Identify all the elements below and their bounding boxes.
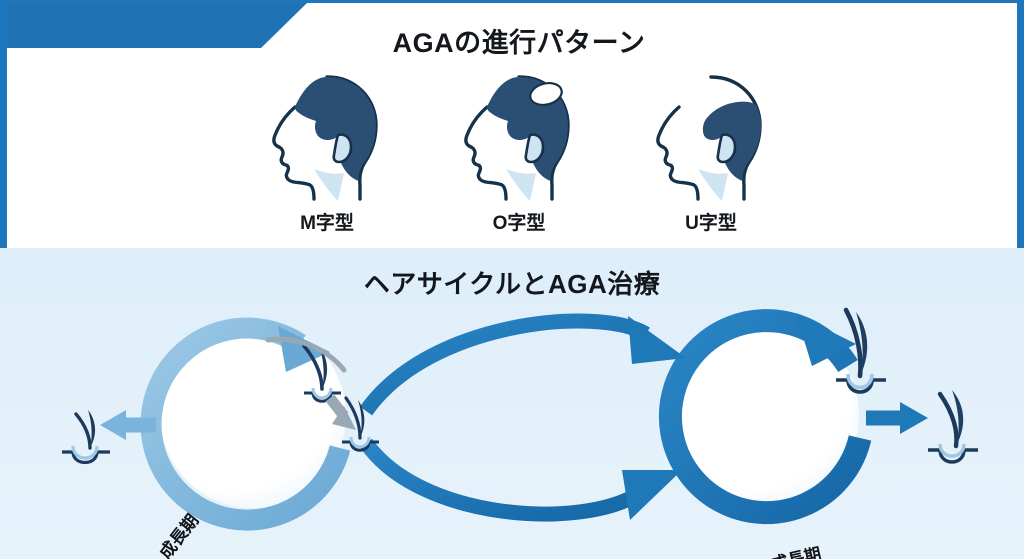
pattern-label-m: M字型: [252, 208, 402, 235]
aga-pattern-section: AGAの進行パターン AGAの進行パターン M字型: [0, 0, 1024, 248]
pattern-list: M字型 O字型: [7, 61, 1024, 235]
pattern-item-o: O字型: [444, 61, 594, 235]
follicle-icon-hairgrowth: [928, 390, 978, 462]
hair-cycle-section: ヘアサイクルとAGA治療: [0, 248, 1024, 559]
treatment-arrow-top: [366, 316, 686, 411]
section-ribbon: [7, 3, 307, 48]
head-profile-o-pattern-icon: [444, 61, 594, 206]
right-cycle-group: [670, 314, 928, 513]
hair-cycle-diagram: [0, 248, 1024, 559]
head-profile-u-pattern-icon: [636, 61, 786, 206]
pattern-item-u: U字型: [636, 61, 786, 235]
head-profile-m-pattern-icon: [252, 61, 402, 206]
pattern-label-o: O字型: [444, 208, 594, 235]
pattern-label-u: U字型: [636, 208, 786, 235]
follicle-icon-hairloss: [62, 410, 110, 463]
infographic-root: AGAの進行パターン AGAの進行パターン M字型: [0, 0, 1024, 559]
treatment-arrow-bottom: [366, 443, 682, 520]
pattern-item-m: M字型: [252, 61, 402, 235]
